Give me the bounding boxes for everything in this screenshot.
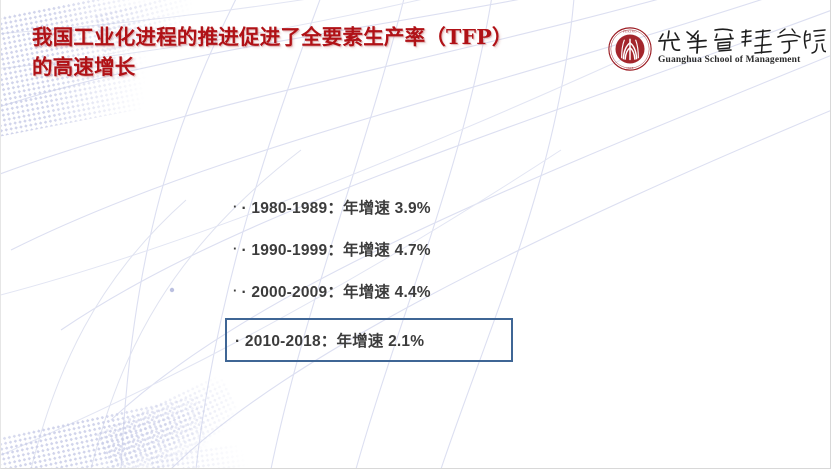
highlighted-list-item-box: · 2010-2018：年增速 2.1%: [225, 318, 513, 362]
bullet-marker-icon: ·: [233, 284, 238, 297]
halftone-dots-bottom-left-secondary: [95, 372, 247, 468]
peking-university-seal-icon: PEKING 1898: [608, 27, 652, 71]
list-item-label: · 1980-1989：年增速 3.9%: [242, 196, 431, 218]
list-item-label: · 2010-2018：年增速 2.1%: [235, 329, 424, 351]
svg-text:PEKING: PEKING: [623, 30, 637, 34]
guanghua-chinese-wordmark: [656, 24, 826, 58]
slide-canvas: 我国工业化进程的推进促进了全要素生产率（TFP） 的高速增长: [0, 0, 831, 469]
tfp-growth-list: · · 1980-1989：年增速 3.9% · · 1990-1999：年增速…: [233, 196, 533, 322]
svg-text:1898: 1898: [626, 66, 634, 70]
page-title: 我国工业化进程的推进促进了全要素生产率（TFP） 的高速增长: [32, 22, 612, 82]
logo-wordmark: Guanghua School of Management: [656, 25, 826, 65]
bullet-marker-icon: ·: [233, 242, 238, 255]
halftone-dots-bottom-left-tertiary: [149, 441, 263, 468]
list-item: · · 2000-2009：年增速 4.4%: [233, 280, 533, 322]
bullet-marker-icon: ·: [233, 200, 238, 213]
list-item: · · 1990-1999：年增速 4.7%: [233, 238, 533, 280]
slide-header: 我国工业化进程的推进促进了全要素生产率（TFP） 的高速增长: [1, 0, 831, 104]
list-item: · 2010-2018：年增速 2.1%: [235, 329, 424, 351]
list-item: · · 1980-1989：年增速 3.9%: [233, 196, 533, 238]
list-item-label: · 1990-1999：年增速 4.7%: [242, 238, 431, 260]
halftone-dots-bottom-left: [1, 395, 212, 468]
list-item-label: · 2000-2009：年增速 4.4%: [242, 280, 431, 302]
logo-english-name: Guanghua School of Management: [658, 55, 800, 65]
guanghua-logo-lockup: PEKING 1898: [608, 25, 826, 81]
